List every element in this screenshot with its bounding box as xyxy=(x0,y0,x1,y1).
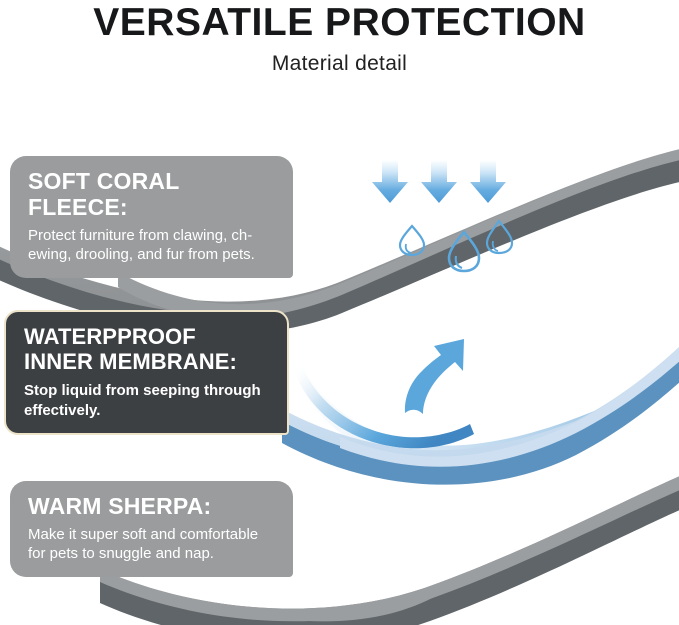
up-arrow-icon xyxy=(405,339,464,414)
callout-body: Stop liquid from seeping through effecti… xyxy=(24,374,271,420)
callout-soft-coral-fleece[interactable]: SOFT CORAL FLEECE: Protect furniture fro… xyxy=(10,156,293,278)
callout-body-line: Make it super soft and comfortable xyxy=(28,526,258,543)
callout-body-line: Protect furniture from clawing, ch- xyxy=(28,227,252,244)
callout-body: Protect furniture from clawing, ch- ewin… xyxy=(28,221,277,265)
down-arrow-group xyxy=(372,160,506,203)
callout-body-line: effectively. xyxy=(24,402,100,419)
material-detail-infographic: VERSATILE PROTECTION Material detail xyxy=(0,0,679,625)
callout-body-line: Stop liquid from seeping through xyxy=(24,382,261,399)
down-arrow-icon xyxy=(372,160,408,203)
callout-title: WATERPPROOF INNER MEMBRANE: xyxy=(24,325,271,374)
callout-body-line: for pets to snuggle and nap. xyxy=(28,545,214,562)
callout-title: WARM SHERPA: xyxy=(28,494,277,520)
callout-warm-sherpa[interactable]: WARM SHERPA: Make it super soft and comf… xyxy=(10,481,293,577)
down-arrow-icon xyxy=(421,160,457,203)
callout-title-line: WATERPPROOF xyxy=(24,324,196,349)
membrane-sheet-graphic xyxy=(282,338,679,485)
callout-body-line: ewing, drooling, and fur from pets. xyxy=(28,246,255,263)
callout-title-line: INNER MEMBRANE: xyxy=(24,349,237,374)
callout-waterproof-inner-membrane[interactable]: WATERPPROOF INNER MEMBRANE: Stop liquid … xyxy=(4,310,289,435)
down-arrow-icon xyxy=(470,160,506,203)
callout-title: SOFT CORAL FLEECE: xyxy=(28,169,277,221)
callout-body: Make it super soft and comfortable for p… xyxy=(28,520,277,564)
